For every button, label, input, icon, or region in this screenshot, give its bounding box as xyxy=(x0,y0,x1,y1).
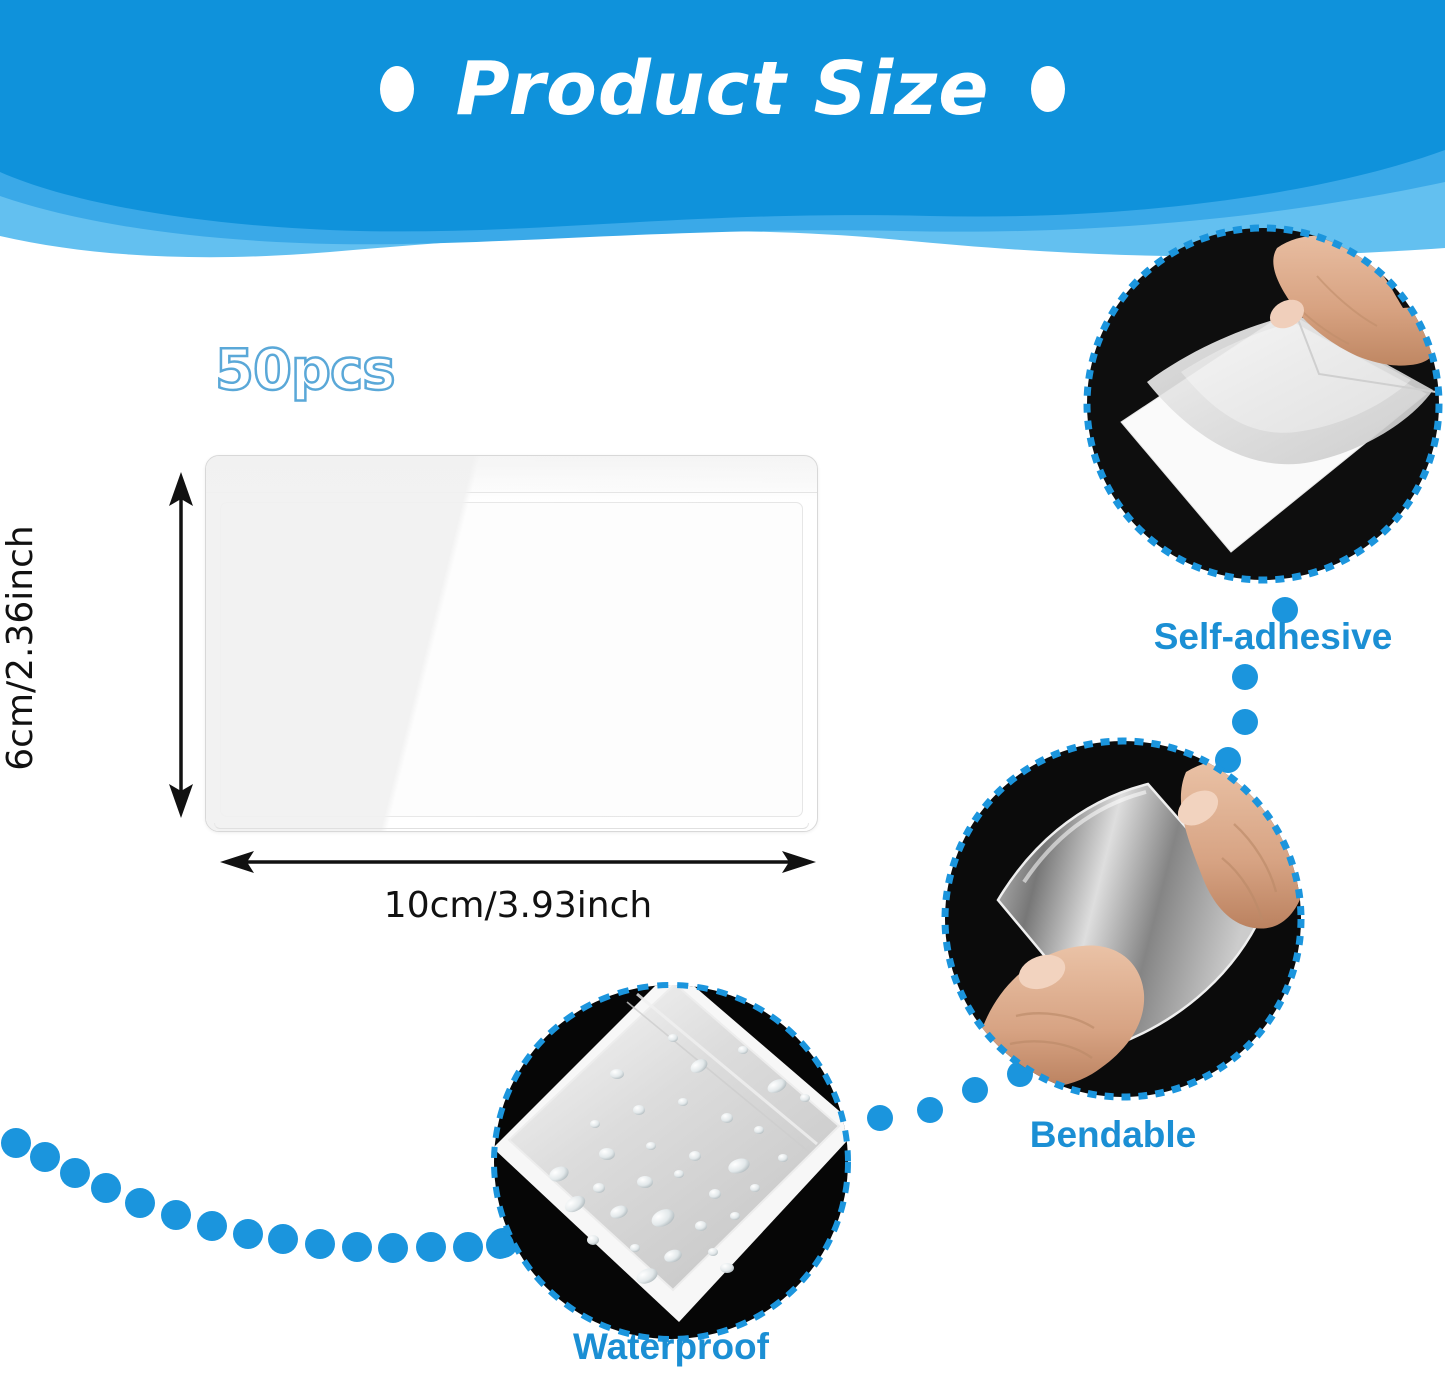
self-adhesive-photo-circle xyxy=(1081,222,1445,596)
banner-wave-primary xyxy=(0,0,1445,231)
card-top-lip xyxy=(206,492,817,495)
feature-self-adhesive[interactable]: Self-adhesive xyxy=(1081,222,1445,596)
height-dimension-label: 6cm/2.36inch xyxy=(0,498,43,798)
accent-dot-waterproof xyxy=(480,1225,520,1265)
height-dimension-arrow xyxy=(158,470,204,820)
feature-bendable[interactable]: Bendable xyxy=(936,732,1310,1106)
feature-waterproof[interactable]: Waterproof xyxy=(487,978,855,1346)
feature-label-self-adhesive: Self-adhesive xyxy=(1091,616,1445,658)
dotted-path-waterproof-to-left-edge xyxy=(1,1128,518,1263)
width-dimension-arrow xyxy=(218,845,818,879)
waterproof-photo-circle xyxy=(487,978,855,1346)
width-dimension-label: 10cm/3.93inch xyxy=(218,885,818,926)
bendable-photo-circle xyxy=(936,732,1310,1106)
card-inner-outline xyxy=(220,502,803,817)
product-card-illustration xyxy=(205,455,818,832)
feature-label-waterproof: Waterproof xyxy=(487,1326,855,1368)
card-bottom-edge xyxy=(214,823,809,829)
feature-label-bendable: Bendable xyxy=(926,1114,1300,1156)
quantity-label: 50pcs xyxy=(215,338,395,403)
